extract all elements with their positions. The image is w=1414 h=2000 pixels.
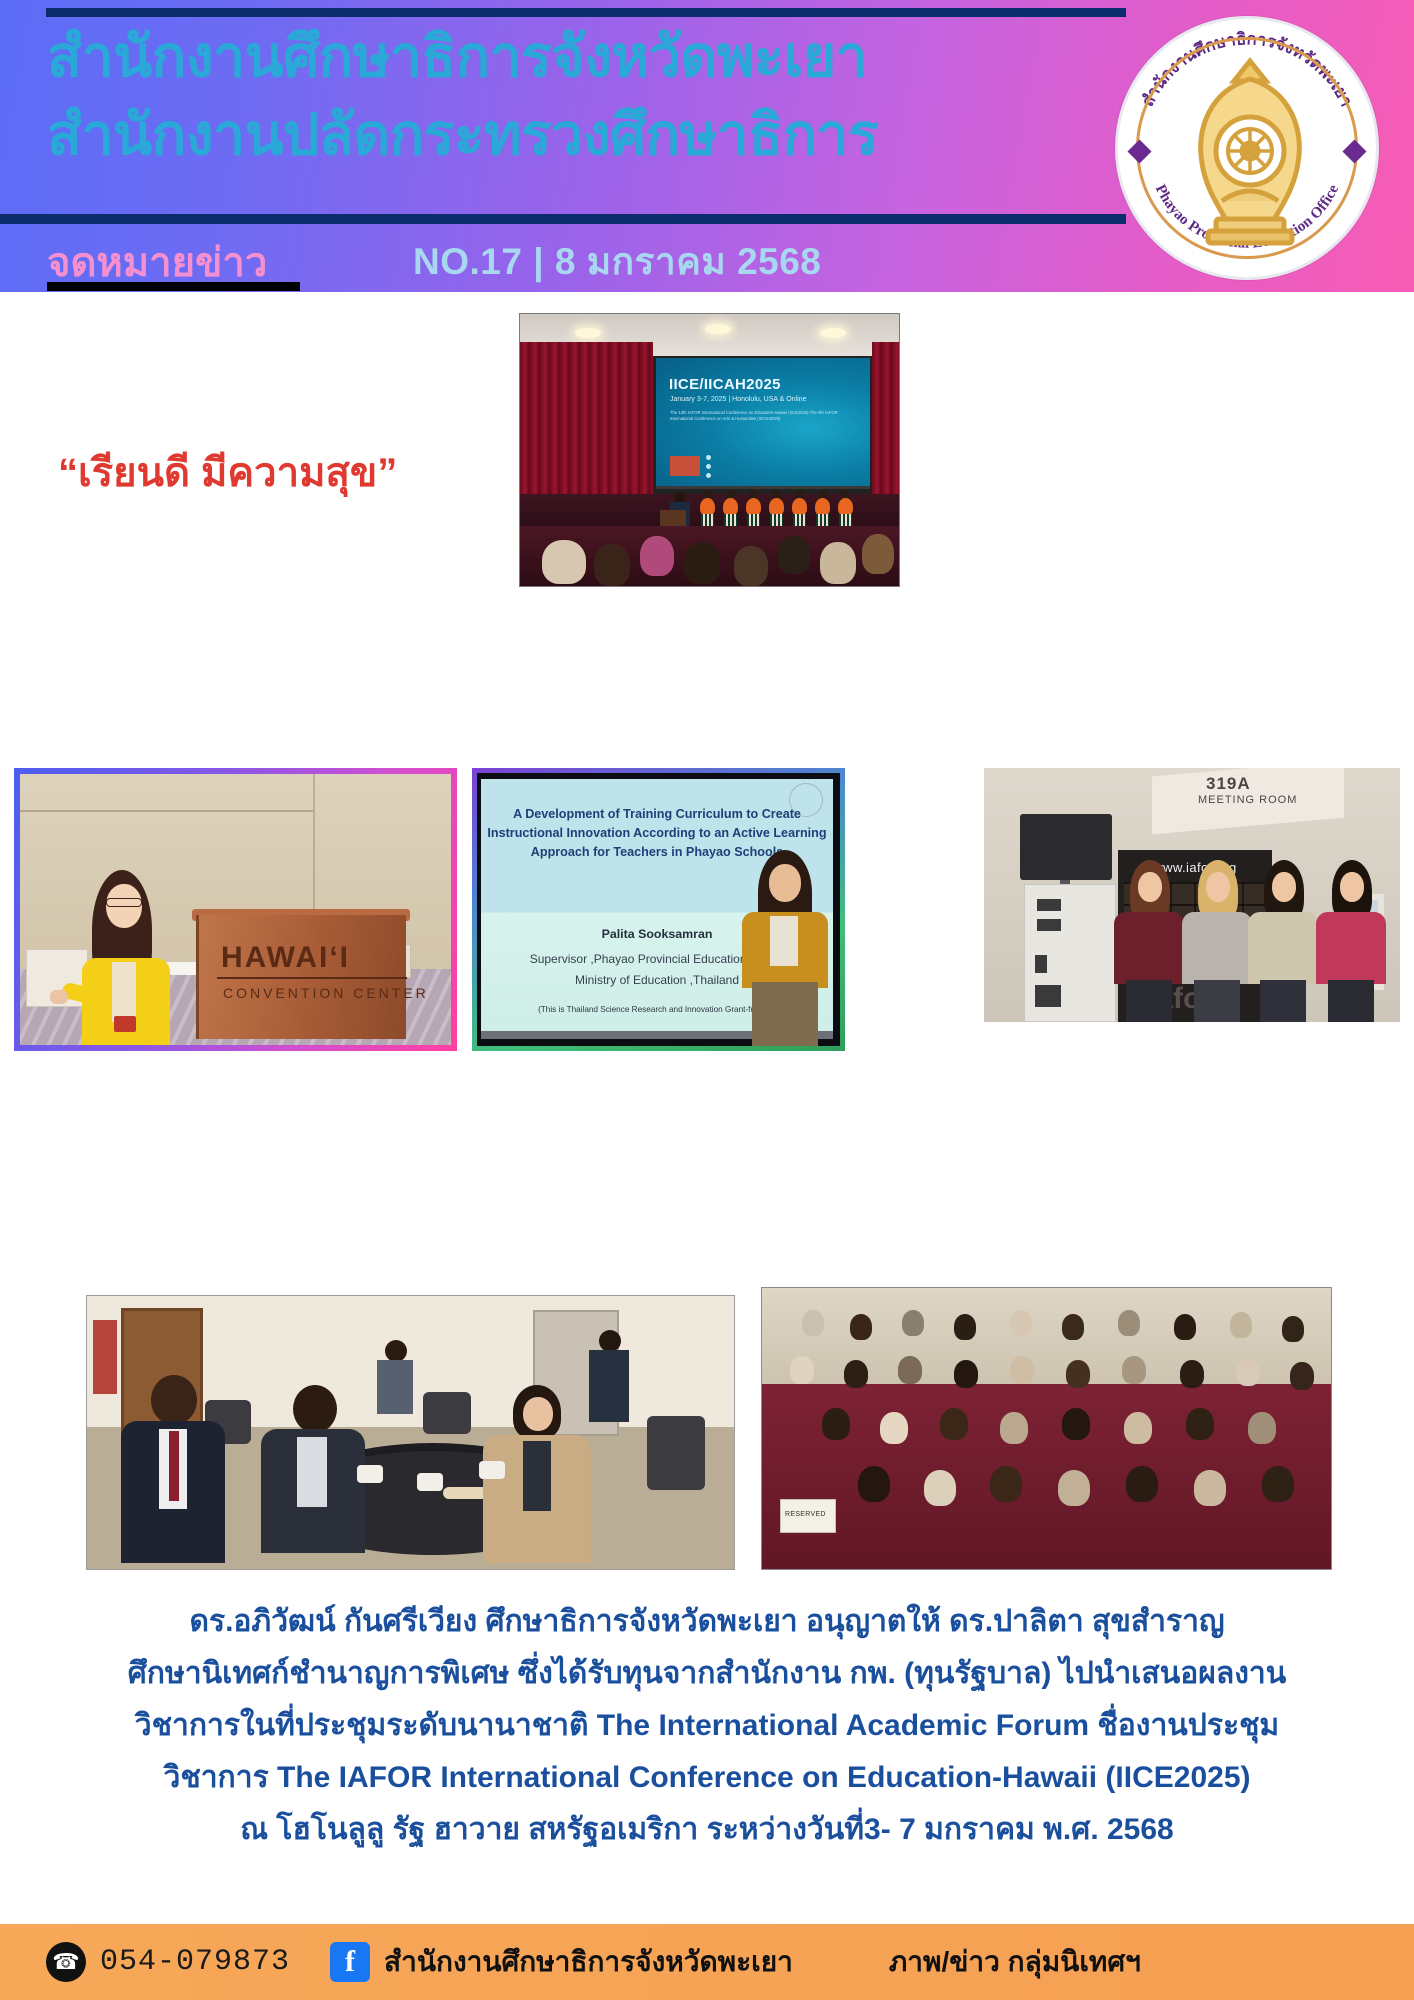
footer-facebook-page[interactable]: สำนักงานศึกษาธิการจังหวัดพะเยา — [384, 1940, 793, 1984]
attendee — [115, 1375, 231, 1563]
auditorium-seating — [762, 1384, 1331, 1569]
iafor-logo-icon — [670, 456, 700, 476]
news-caption: ดร.อภิวัฒน์ กันศรีเวียง ศึกษาธิการจังหวั… — [0, 1596, 1414, 1856]
photo-group-at-iafor-banner: 319A MEETING ROOM www.iafor.org iafor — [984, 768, 1400, 1022]
attendee — [1314, 860, 1388, 1022]
ceiling-light — [820, 328, 846, 338]
attendee — [1180, 860, 1254, 1022]
caption-line-5: ณ โฮโนลูลู รัฐ ฮาวาย สหรัฐอเมริกา ระหว่า… — [0, 1804, 1414, 1856]
header-rule-middle — [0, 214, 1126, 224]
newsletter-label: จดหมายข่าว — [47, 230, 267, 292]
slide-conference-dates: January 3-7, 2025 | Honolulu, USA & Onli… — [670, 396, 806, 403]
reserved-seat-sign: RESERVED — [780, 1499, 836, 1533]
attendee — [1246, 860, 1320, 1022]
slide-conference-title: IICE/IICAH2025 — [669, 376, 781, 393]
wall-poster — [93, 1320, 117, 1394]
attendee — [257, 1385, 369, 1553]
phayao-education-office-logo: สำนักงานศึกษาธิการจังหวัดพะเยา Phayao Pr… — [1115, 16, 1379, 280]
wall-seam — [20, 810, 313, 812]
phone-icon: ☎ — [46, 1942, 86, 1982]
hall-audience — [520, 526, 899, 586]
podium-text-hawaii: HAWAI‘I — [221, 941, 350, 975]
coffee-cup — [479, 1461, 505, 1479]
presenter-figure — [78, 870, 174, 1040]
page-footer: ☎ 054-079873 f สำนักงานศึกษาธิการจังหวัด… — [0, 1924, 1414, 2000]
org-title-line2: สำนักงานปลัดกระทรวงศึกษาธิการ — [47, 100, 878, 170]
footer-phone-number[interactable]: 054-079873 — [100, 1945, 290, 1979]
coffee-cup — [357, 1465, 383, 1483]
white-cabinet — [1024, 884, 1116, 1022]
ceiling-light — [705, 324, 731, 334]
slide-conference-body: The 13th IAFOR International Conference … — [670, 410, 840, 422]
photo-presentation-slide: A Development of Training Curriculum to … — [472, 768, 845, 1051]
meeting-room-number: 319A — [1206, 774, 1251, 794]
wall-mounted-monitor — [1020, 814, 1112, 880]
facebook-icon[interactable]: f — [330, 1942, 370, 1982]
coffee-cup — [417, 1473, 443, 1491]
header-rule-top — [46, 8, 1126, 17]
page-header: สำนักงานศึกษาธิการจังหวัดพะเยา สำนักงานป… — [0, 0, 1414, 292]
caption-line-3: วิชาการในที่ประชุมระดับนานาชาติ The Inte… — [0, 1700, 1414, 1752]
background-attendee — [587, 1330, 631, 1422]
meeting-room-label: MEETING ROOM — [1198, 794, 1297, 806]
podium: HAWAI‘I CONVENTION CENTER — [196, 915, 406, 1039]
org-title-line1: สำนักงานศึกษาธิการจังหวัดพะเยา — [47, 22, 867, 92]
chair — [423, 1392, 471, 1434]
caption-line-2: ศึกษานิเทศก์ชำนาญการพิเศษ ซึ่งได้รับทุนจ… — [0, 1648, 1414, 1700]
logo-emblem-icon — [1170, 51, 1330, 251]
projection-screen: IICE/IICAH2025 January 3-7, 2025 | Honol… — [656, 358, 870, 489]
slide-bullets — [706, 455, 711, 482]
caption-line-1: ดร.อภิวัฒน์ กันศรีเวียง ศึกษาธิการจังหวั… — [0, 1596, 1414, 1648]
chair — [647, 1416, 705, 1490]
slogan-text: “เรียนดี มีความสุข” — [58, 440, 397, 504]
background-attendee — [375, 1340, 415, 1414]
newsletter-page: สำนักงานศึกษาธิการจังหวัดพะเยา สำนักงานป… — [0, 0, 1414, 2000]
caption-line-4: วิชาการ The IAFOR International Conferen… — [0, 1752, 1414, 1804]
reserved-sign-text: RESERVED — [785, 1511, 826, 1518]
logo-disc: สำนักงานศึกษาธิการจังหวัดพะเยา Phayao Pr… — [1115, 16, 1379, 280]
podium-underline — [217, 977, 407, 979]
slide-title-line2: Instructional Innovation According to an… — [487, 824, 827, 843]
presenter-beside-slide — [736, 850, 834, 1046]
photo-conference-audience: RESERVED — [761, 1287, 1332, 1570]
photo-opening-ceremony-hall: IICE/IICAH2025 January 3-7, 2025 | Honol… — [519, 313, 900, 587]
attendee — [1112, 860, 1186, 1022]
photo-speaker-at-podium: HAWAI‘I CONVENTION CENTER — [14, 768, 457, 1051]
issue-number-date: NO.17 | 8 มกราคม 2568 — [413, 232, 821, 291]
photo-roundtable-discussion — [86, 1295, 735, 1570]
slide-title-line1: A Development of Training Curriculum to … — [487, 805, 827, 824]
podium-text-convention-center: CONVENTION CENTER — [223, 985, 429, 1001]
footer-photo-news-credit: ภาพ/ข่าว กลุ่มนิเทศฯ — [889, 1940, 1141, 1984]
ceiling-light — [575, 328, 601, 338]
